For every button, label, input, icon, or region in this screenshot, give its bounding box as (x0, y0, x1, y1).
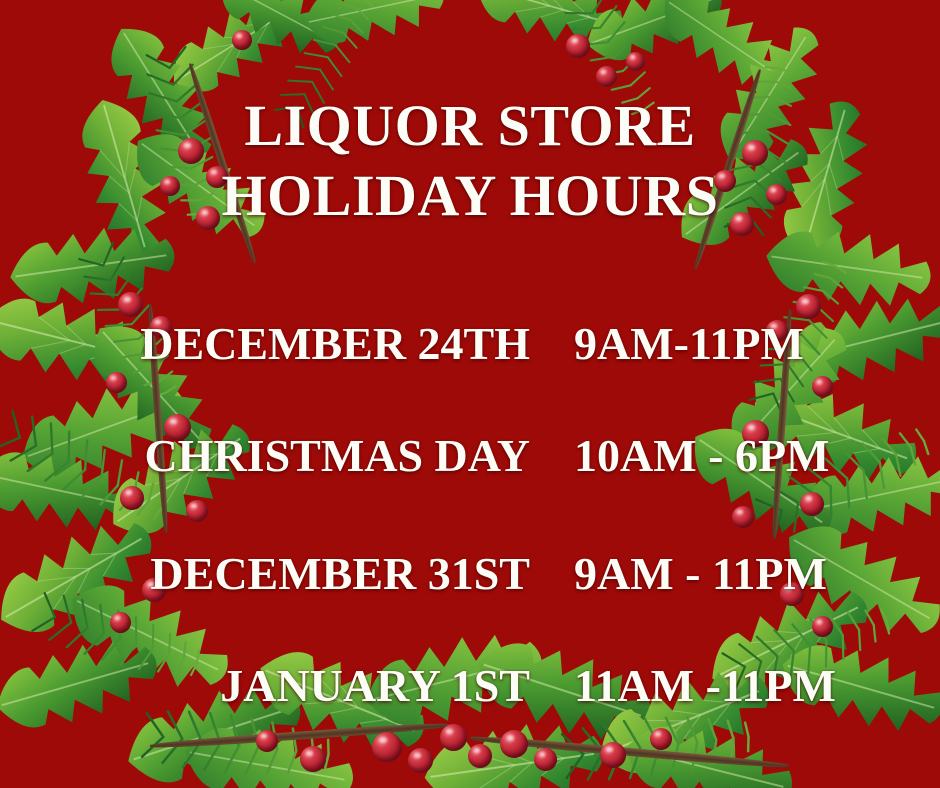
page-title-line-2: HOLIDAY HOURS (0, 166, 940, 226)
hours-time-value: 9AM - 11PM (536, 548, 900, 600)
hours-day-label: JANUARY 1ST (40, 660, 536, 712)
page-title-line-1: LIQUOR STORE (0, 96, 940, 156)
hours-time-value: 10AM - 6PM (536, 430, 900, 482)
hours-time-value: 9AM-11PM (536, 318, 900, 370)
hours-day-label: DECEMBER 24TH (40, 318, 536, 370)
hours-row: DECEMBER 24TH 9AM-11PM (40, 318, 900, 370)
hours-row: JANUARY 1ST 11AM -11PM (40, 660, 900, 712)
hours-row: CHRISTMAS DAY 10AM - 6PM (40, 430, 900, 482)
hours-row: DECEMBER 31ST 9AM - 11PM (40, 548, 900, 600)
holiday-hours-poster: LIQUOR STORE HOLIDAY HOURS DECEMBER 24TH… (0, 0, 940, 788)
hours-day-label: CHRISTMAS DAY (40, 430, 536, 482)
poster-text-content: LIQUOR STORE HOLIDAY HOURS DECEMBER 24TH… (0, 0, 940, 788)
hours-time-value: 11AM -11PM (536, 660, 900, 712)
hours-day-label: DECEMBER 31ST (40, 548, 536, 600)
